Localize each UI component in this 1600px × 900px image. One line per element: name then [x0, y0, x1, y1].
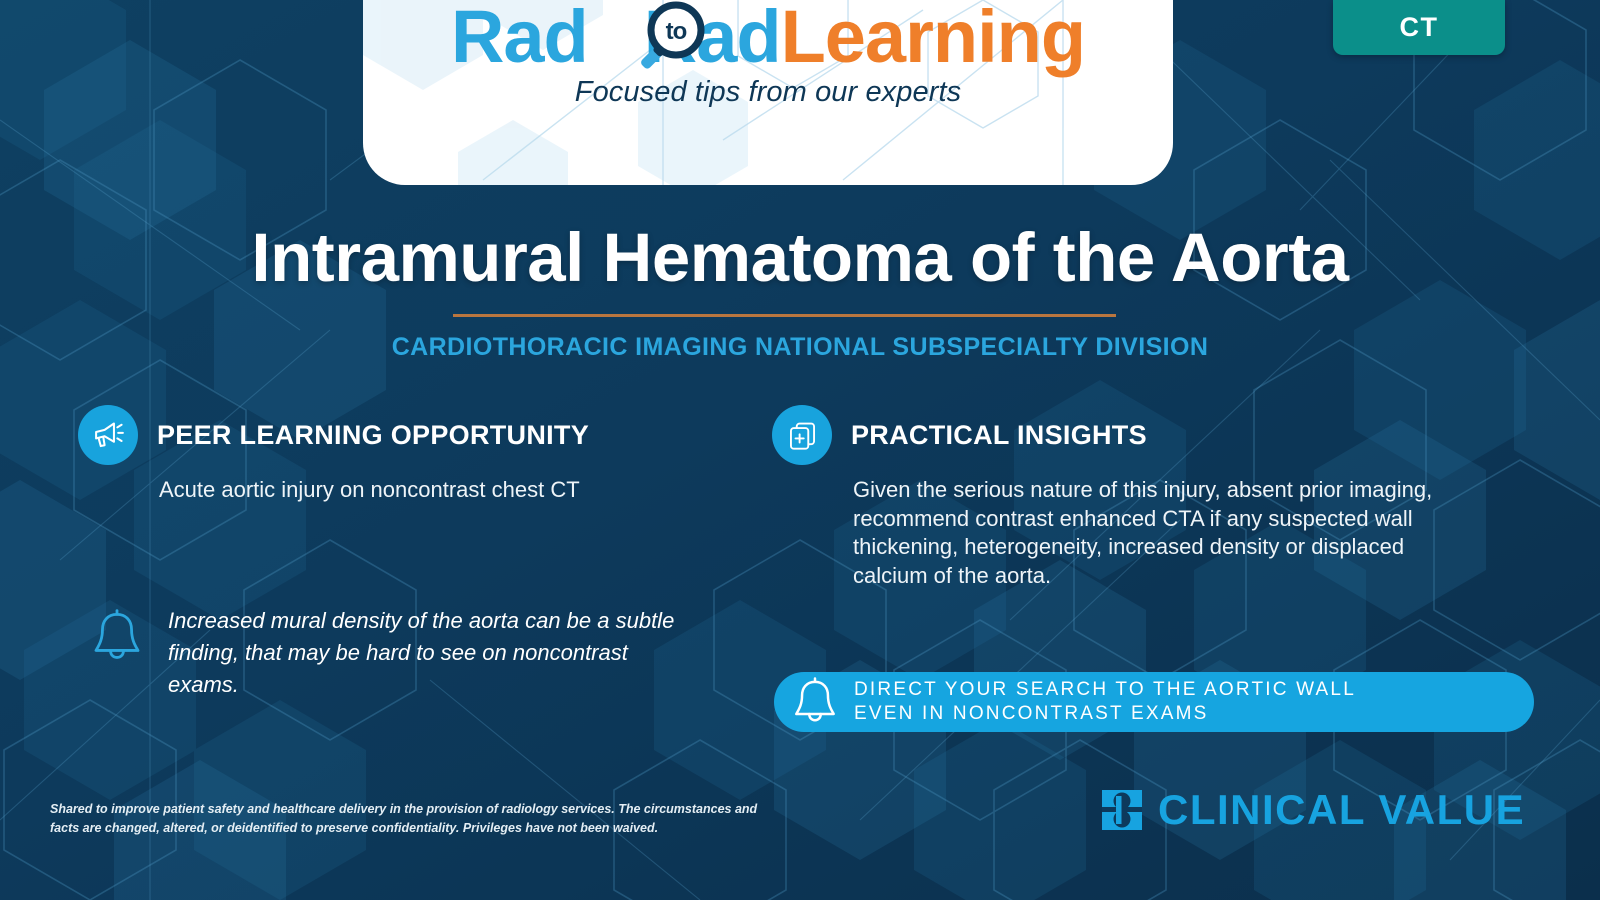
page-subtitle: CARDIOTHORACIC IMAGING NATIONAL SUBSPECI…: [0, 333, 1600, 362]
modality-badge-label: CT: [1400, 12, 1439, 43]
wordmark-learning: Learning: [781, 0, 1085, 74]
magnifier-label: to: [666, 18, 687, 45]
key-takeaway-text: Increased mural density of the aorta can…: [168, 605, 688, 701]
brand-tagline: Focused tips from our experts: [575, 76, 962, 109]
page-title: Intramural Hematoma of the Aorta: [0, 218, 1600, 297]
wordmark-rad-1: Rad: [451, 0, 588, 74]
brand-wordmark: Rad Rad Learning to: [451, 0, 1085, 74]
section-title: PRACTICAL INSIGHTS: [851, 420, 1147, 451]
documents-plus-icon: [772, 405, 832, 465]
magnifying-glass-icon: to: [629, 0, 715, 80]
section-header: PEER LEARNING OPPORTUNITY: [78, 405, 738, 465]
modality-badge: CT: [1333, 0, 1505, 55]
megaphone-icon: [78, 405, 138, 465]
clinical-value-logo: CLINICAL VALUE: [1100, 788, 1525, 832]
call-to-action-banner[interactable]: DIRECT YOUR SEARCH TO THE AORTIC WALL EV…: [774, 672, 1534, 732]
bell-icon: [88, 609, 146, 665]
call-to-action-line-1: DIRECT YOUR SEARCH TO THE AORTIC WALL: [854, 678, 1356, 702]
section-body: Given the serious nature of this injury,…: [853, 476, 1472, 590]
section-title: PEER LEARNING OPPORTUNITY: [157, 420, 589, 451]
call-to-action-text: DIRECT YOUR SEARCH TO THE AORTIC WALL EV…: [854, 678, 1356, 726]
clinical-value-wordmark: CLINICAL VALUE: [1158, 789, 1525, 831]
bell-icon: [792, 677, 838, 727]
brand-logo-card: Rad Rad Learning to Focused tips from ou…: [363, 0, 1173, 185]
section-header: PRACTICAL INSIGHTS: [772, 405, 1472, 465]
brand-wordmark-group: Rad Rad Learning to Focused tips from ou…: [363, 0, 1173, 109]
title-divider: [453, 314, 1116, 317]
key-takeaway-note: Increased mural density of the aorta can…: [88, 605, 688, 701]
clinical-value-mark-icon: [1100, 788, 1144, 832]
section-body: Acute aortic injury on noncontrast chest…: [159, 476, 738, 505]
call-to-action-line-2: EVEN IN NONCONTRAST EXAMS: [854, 702, 1356, 726]
disclaimer-text: Shared to improve patient safety and hea…: [50, 800, 780, 839]
section-peer-learning: PEER LEARNING OPPORTUNITY Acute aortic i…: [78, 405, 738, 505]
section-practical-insights: PRACTICAL INSIGHTS Given the serious nat…: [772, 405, 1472, 590]
